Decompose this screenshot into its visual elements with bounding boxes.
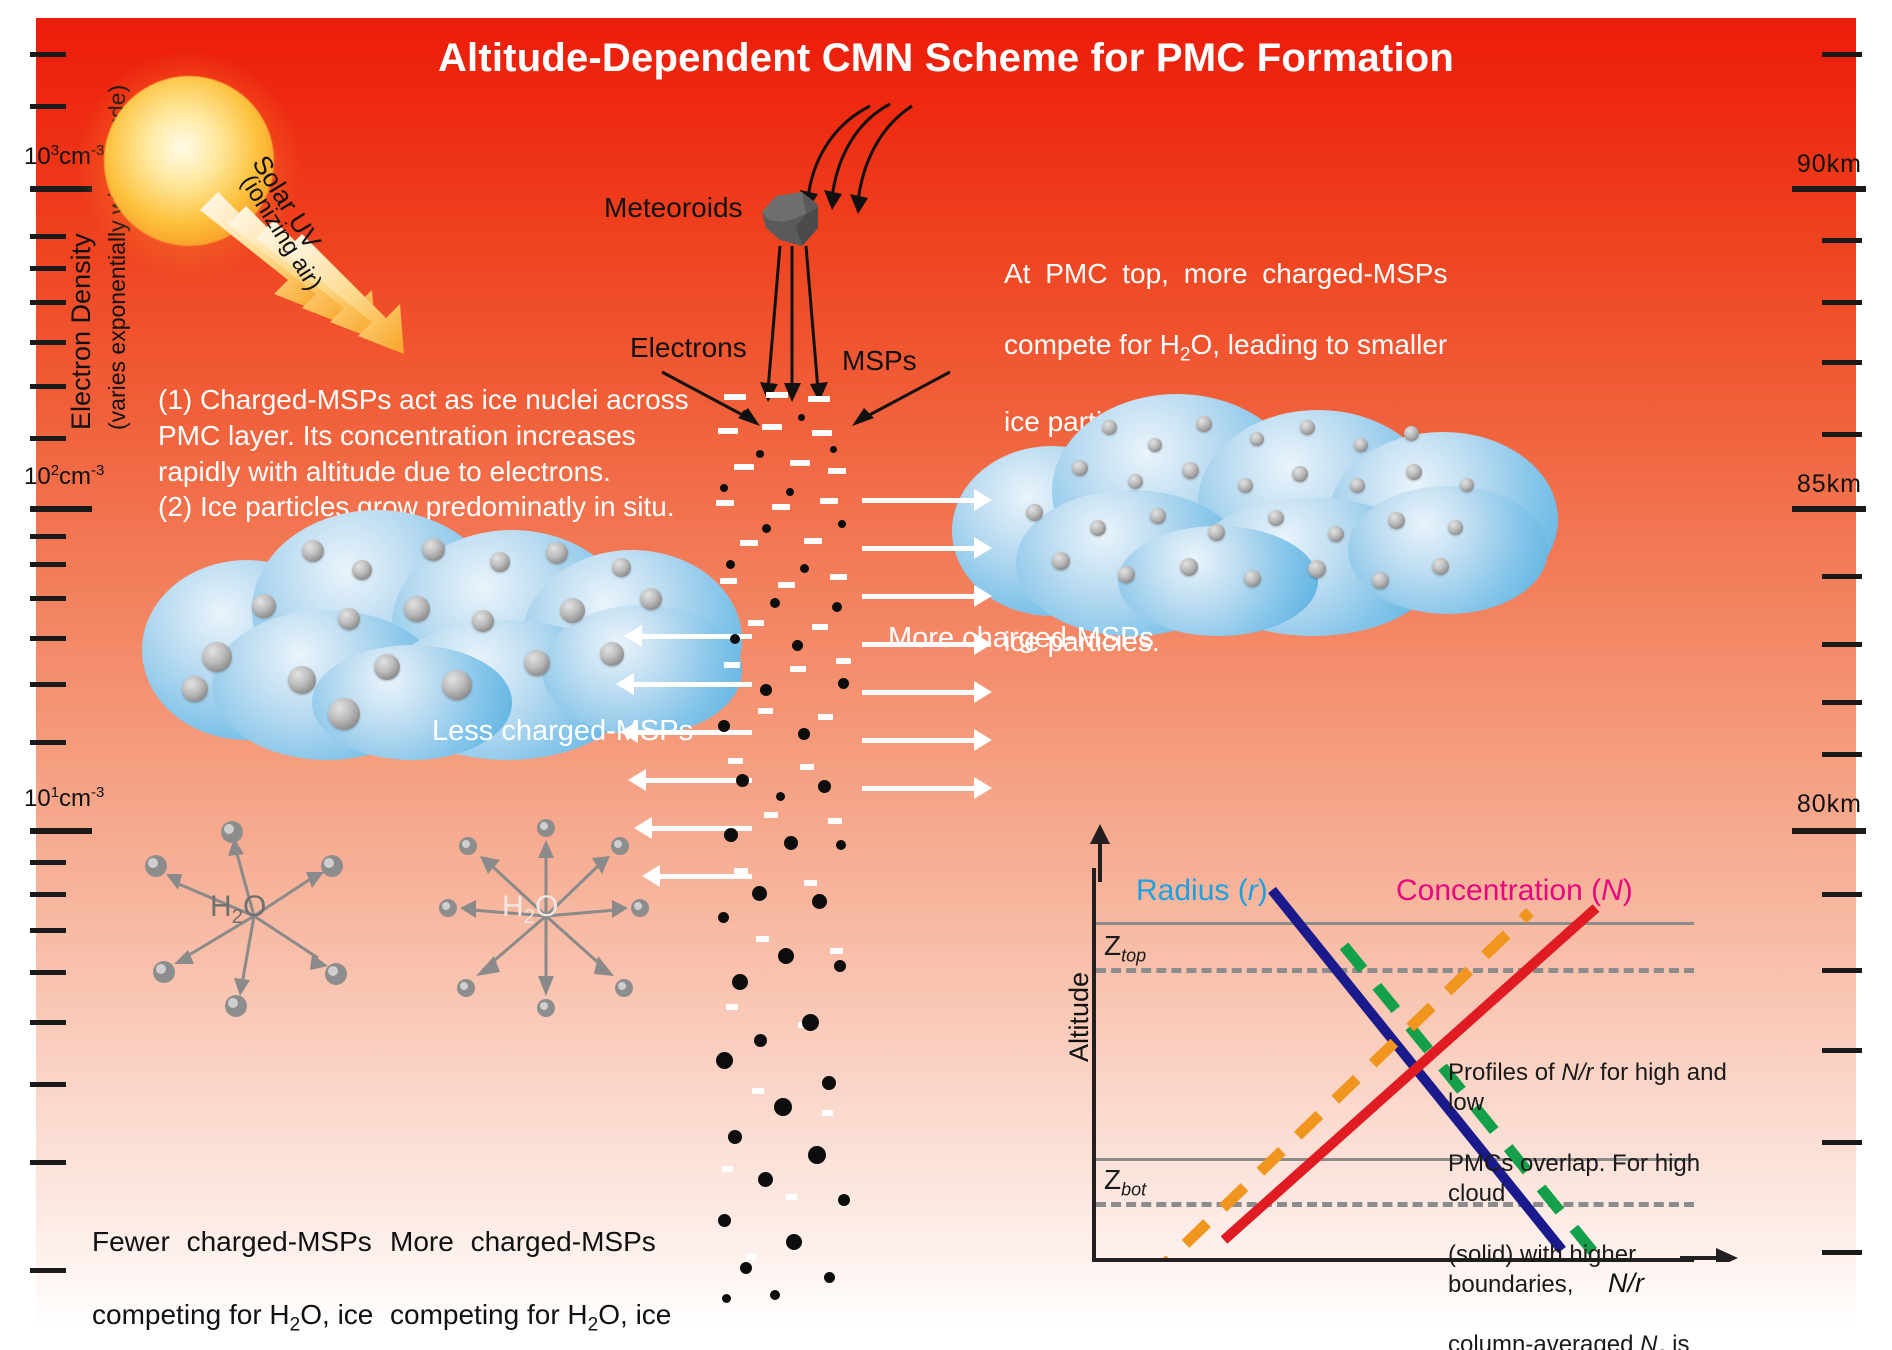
msps-label: MSPs [842, 345, 917, 377]
page-title: Altitude-Dependent CMN Scheme for PMC Fo… [0, 36, 1892, 81]
h2o-label-right: H2O [502, 890, 558, 929]
chart-note-line-2: PMCs overlap. For high cloud [1448, 1149, 1748, 1209]
caption-fewer-msps: Fewer charged-MSPs competing for H2O, ic… [92, 1188, 382, 1350]
pmc-cloud-high [952, 386, 1572, 636]
chart-note-line-1: Profiles of N/r for high and low [1448, 1058, 1748, 1118]
caption-right-line-1: More charged-MSPs [390, 1224, 690, 1260]
right-axis-label-85km: 85km [1797, 470, 1862, 499]
chart-annotation-note: Profiles of N/r for high and low PMCs ov… [1448, 1028, 1748, 1350]
charged-msp-column [712, 388, 858, 1308]
caption-left-line-2: competing for H2O, ice [92, 1297, 382, 1338]
meteoroid-incoming-trails [790, 98, 990, 228]
meteoroid-icon [756, 188, 818, 246]
chart-y-axis-label: Altitude [1064, 972, 1095, 1062]
caption-right-line-2: competing for H2O, ice [390, 1297, 690, 1338]
chart-note-line-4: column-averaged Nc is larger, [1448, 1330, 1748, 1350]
chart-note-line-3: (solid) with higher boundaries, [1448, 1240, 1748, 1300]
left-axis-label-1e1: 101cm-3 [24, 784, 104, 813]
right-axis-label-90km: 90km [1797, 150, 1862, 179]
more-charged-msps-label: More charged-MSPs [888, 622, 1154, 655]
right-note-line-2: compete for H2O, leading to smaller [1004, 327, 1452, 368]
caption-more-msps: More charged-MSPs competing for H2O, ice… [390, 1188, 690, 1350]
h2o-label-left: H2O [210, 890, 266, 929]
meteoroids-label: Meteoroids [604, 192, 743, 224]
figure-canvas: Altitude-Dependent CMN Scheme for PMC Fo… [0, 0, 1892, 1350]
right-axis-label-80km: 80km [1797, 790, 1862, 819]
caption-left-line-1: Fewer charged-MSPs [92, 1224, 382, 1260]
right-note-line-1: At PMC top, more charged-MSPs [1004, 256, 1452, 292]
electrons-label: Electrons [630, 332, 747, 364]
left-axis-label-1e2: 102cm-3 [24, 462, 104, 491]
msps-leader-line [840, 368, 960, 438]
electron-density-axis-title: Electron Density [66, 10, 97, 430]
